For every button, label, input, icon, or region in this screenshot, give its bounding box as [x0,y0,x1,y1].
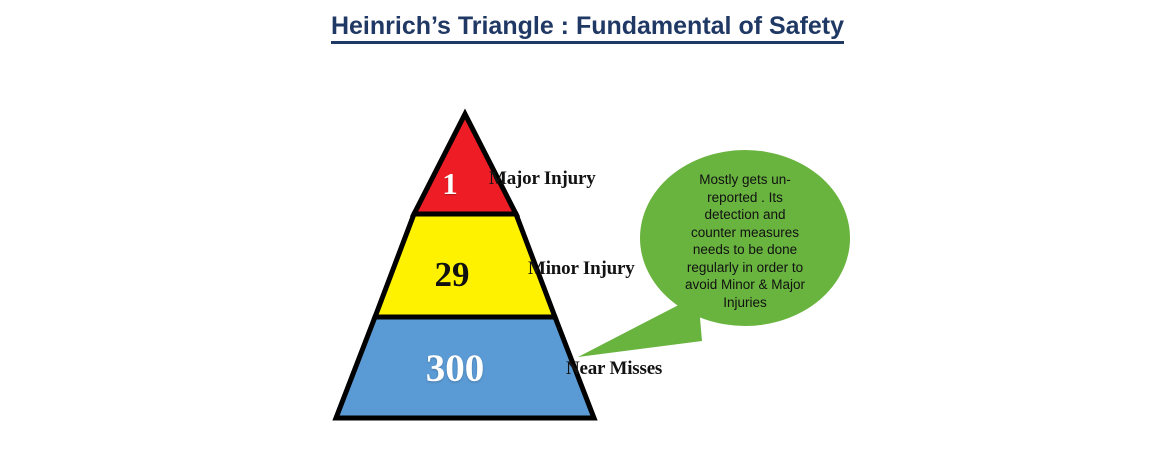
pyramid-tier-near-misses[interactable] [336,317,594,418]
diagram-canvas: Heinrich’s Triangle : Fundamental of Saf… [0,0,1175,450]
callout-body [640,150,850,326]
page-title: Heinrich’s Triangle : Fundamental of Saf… [0,12,1175,41]
page-title-text: Heinrich’s Triangle : Fundamental of Saf… [331,12,844,44]
pyramid-tier-major-injury[interactable] [414,114,516,214]
callout-svg [570,145,870,370]
callout-bubble[interactable]: Mostly gets un-reported . Itsdetection a… [570,145,870,370]
